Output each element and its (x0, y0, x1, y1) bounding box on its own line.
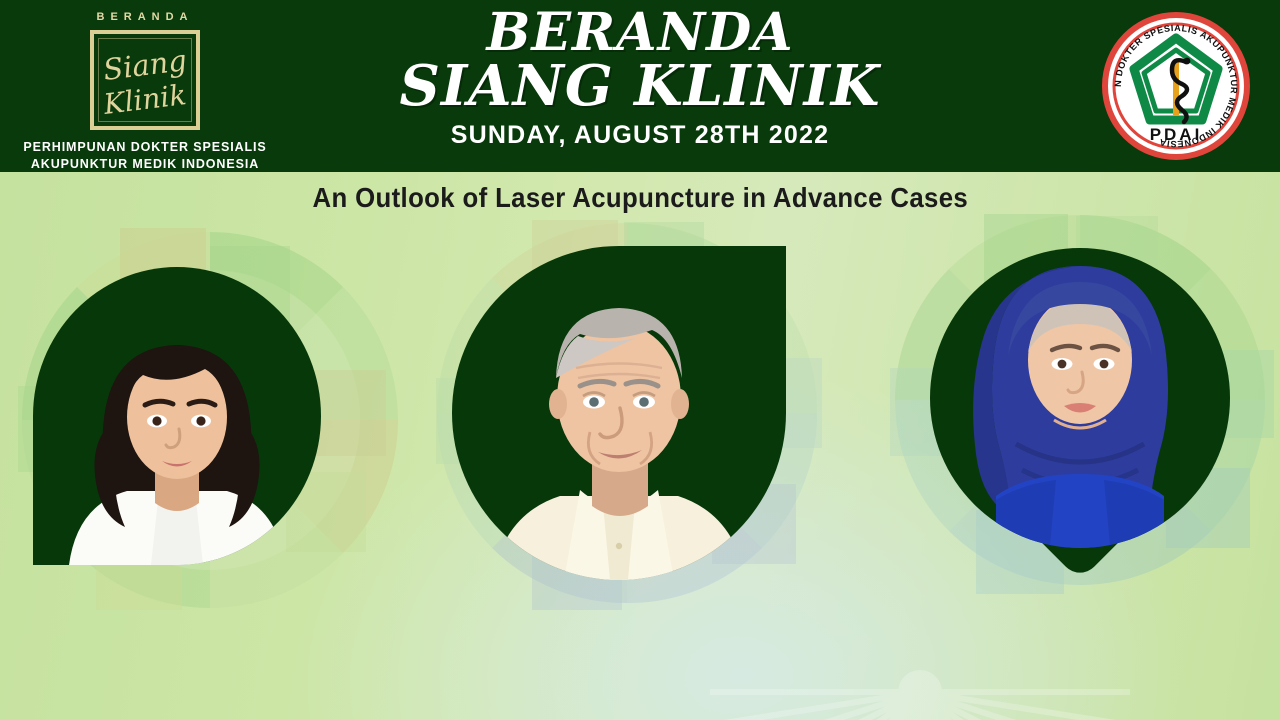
poster-body: An Outlook of Laser Acupuncture in Advan… (0, 172, 1280, 720)
event-title-line-2: SIANG KLINIK (330, 60, 950, 114)
portrait-illustration-3 (930, 248, 1230, 548)
brand-organization-name: Perhimpunan Dokter Spesialis Akupunktur … (0, 139, 290, 173)
brand-script-siang: Siang (93, 45, 198, 86)
speaker-photo-1 (33, 267, 321, 565)
speaker-card-2 (412, 208, 862, 638)
brand-kicker: BERANDA (0, 12, 290, 23)
brand-script-klinik: Klinik (93, 80, 198, 120)
speaker-card-1 (0, 210, 420, 630)
portrait-illustration-1 (33, 267, 321, 565)
beranda-siang-klinik-logo: BERANDA Siang Klinik Perhimpunan Dokter … (0, 4, 290, 170)
portrait-illustration-2 (452, 246, 786, 580)
event-title-block: BERANDA SIANG KLINIK SUNDAY, AUGUST 28TH… (330, 8, 950, 150)
speaker-card-3 (880, 210, 1280, 640)
brand-org-line-2: Akupunktur Medik Indonesia (0, 156, 290, 173)
pdai-seal-logo: PERHIMPUNAN DOKTER SPESIALIS AKUPUNKTUR … (1102, 12, 1250, 160)
speaker-photo-3 (930, 248, 1230, 548)
event-date: SUNDAY, AUGUST 28TH 2022 (330, 121, 950, 150)
seal-acronym: PDAI (1150, 125, 1203, 144)
webinar-poster: BERANDA Siang Klinik Perhimpunan Dokter … (0, 0, 1280, 720)
brand-logo-frame: Siang Klinik (90, 30, 200, 130)
speaker-photo-2 (452, 246, 786, 580)
event-title-line-1: BERANDA (330, 8, 950, 58)
poster-header: BERANDA Siang Klinik Perhimpunan Dokter … (0, 0, 1280, 172)
brand-org-line-1: Perhimpunan Dokter Spesialis (0, 139, 290, 156)
